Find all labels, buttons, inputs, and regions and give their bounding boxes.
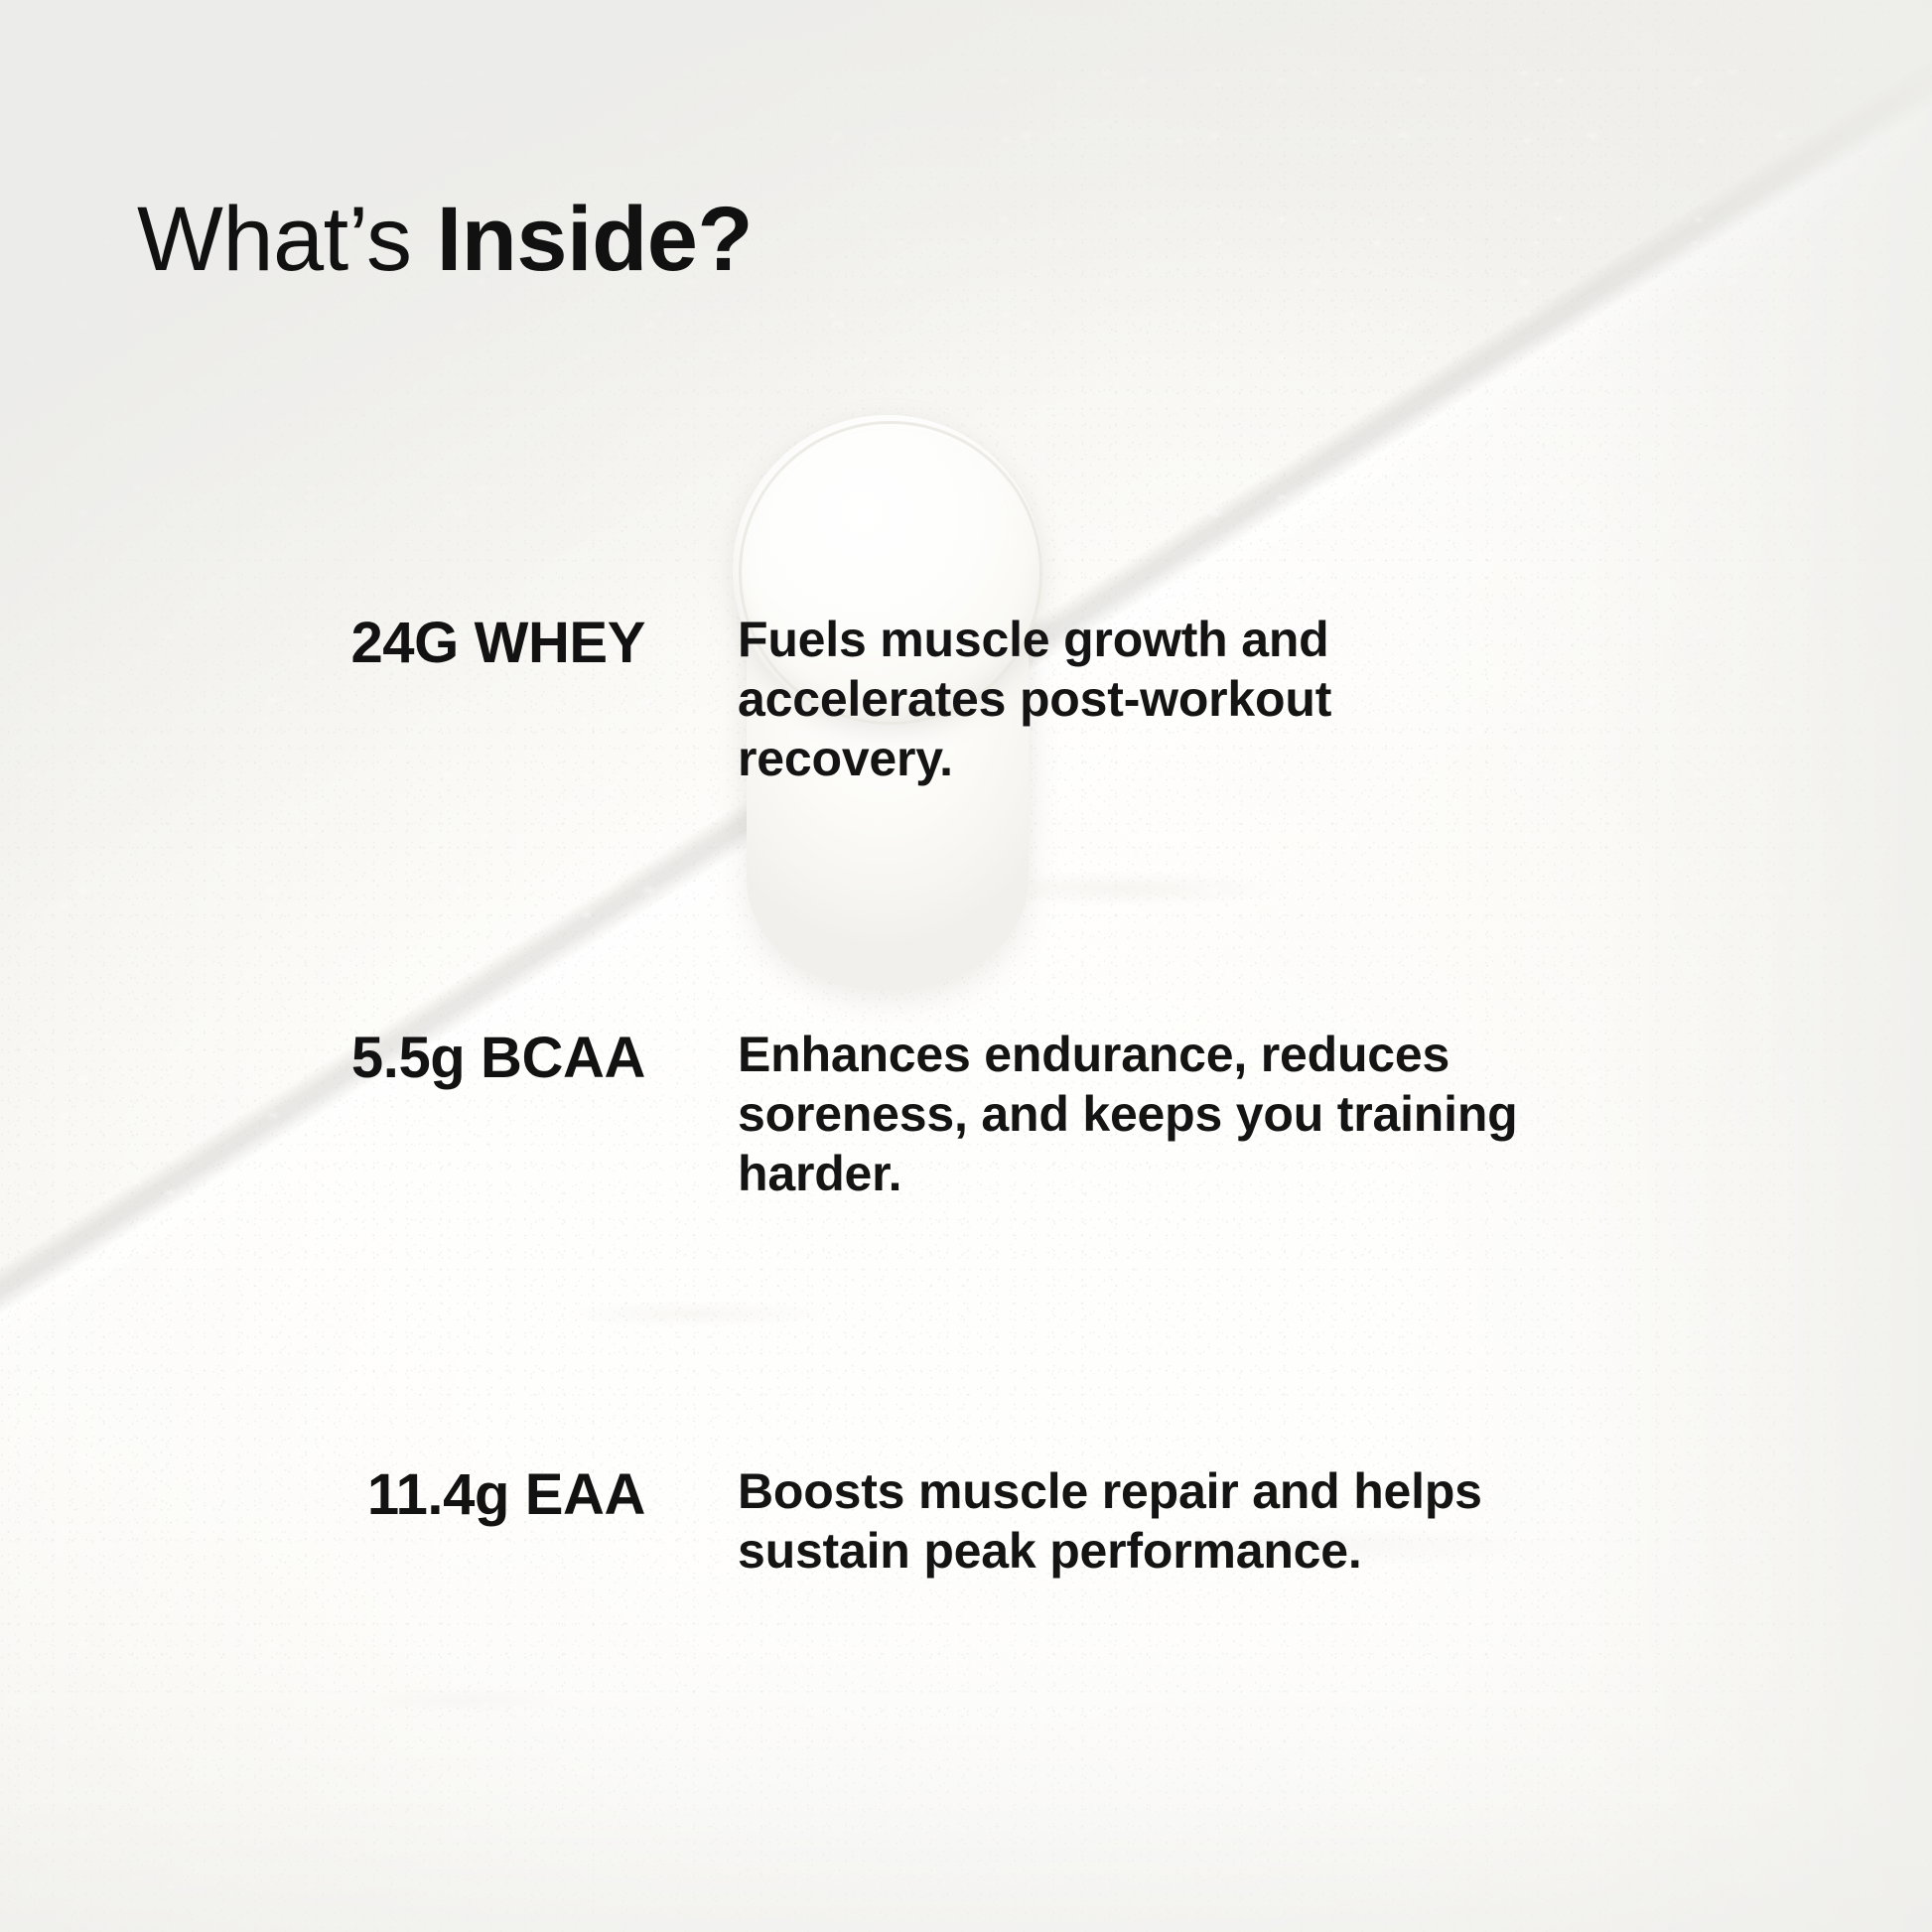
- ingredient-row-whey: 24G WHEY Fuels muscle growth and acceler…: [0, 610, 1932, 788]
- ingredient-amount-label: 24G WHEY: [0, 610, 645, 677]
- page-title-bold: Inside?: [437, 189, 754, 290]
- ingredient-description: Boosts muscle repair and helps sustain p…: [738, 1461, 1532, 1581]
- ingredient-row-bcaa: 5.5g BCAA Enhances endurance, reduces so…: [0, 1025, 1932, 1203]
- content-layer: What’s Inside? 24G WHEY Fuels muscle gro…: [0, 0, 1932, 1932]
- page-title: What’s Inside?: [137, 191, 753, 289]
- promo-image: What’s Inside? 24G WHEY Fuels muscle gro…: [0, 0, 1932, 1932]
- page-title-light: What’s: [137, 189, 437, 290]
- ingredient-description: Enhances endurance, reduces soreness, an…: [738, 1025, 1532, 1203]
- ingredient-description: Fuels muscle growth and accelerates post…: [738, 610, 1532, 788]
- ingredient-amount-label: 11.4g EAA: [0, 1461, 645, 1529]
- ingredient-amount-label: 5.5g BCAA: [0, 1025, 645, 1092]
- ingredient-row-eaa: 11.4g EAA Boosts muscle repair and helps…: [0, 1461, 1932, 1581]
